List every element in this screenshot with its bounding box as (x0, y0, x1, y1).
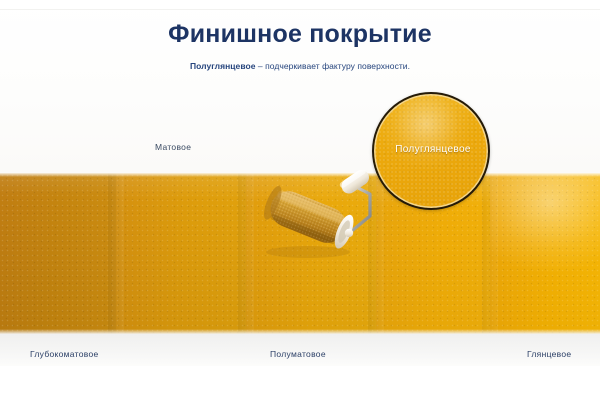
page-title: Финишное покрытие (0, 20, 600, 49)
page-subtitle-lead: Полуглянцевое (190, 61, 256, 71)
band-deep-matte (0, 173, 116, 334)
band-matte (116, 173, 246, 334)
swatch-label-semi-matte: Полуматовое (270, 349, 326, 359)
page-subtitle-rest: – подчеркивает фактуру поверхности. (256, 61, 411, 71)
band-gloss (490, 173, 600, 334)
header-hairline (0, 9, 600, 10)
swatch-label-matte: Матовое (155, 142, 191, 152)
paint-roller-icon (262, 170, 384, 260)
finish-coating-infographic: Финишное покрытие Полуглянцевое – подчер… (0, 0, 600, 400)
page-subtitle: Полуглянцевое – подчеркивает фактуру пов… (0, 61, 600, 71)
swatch-label-gloss: Глянцевое (527, 349, 571, 359)
callout-circle-semi-gloss[interactable]: Полуглянцевое (372, 92, 490, 210)
callout-label: Полуглянцевое (374, 144, 490, 155)
footer-background (0, 366, 600, 400)
swatch-label-deep-matte: Глубокоматовое (30, 349, 99, 359)
